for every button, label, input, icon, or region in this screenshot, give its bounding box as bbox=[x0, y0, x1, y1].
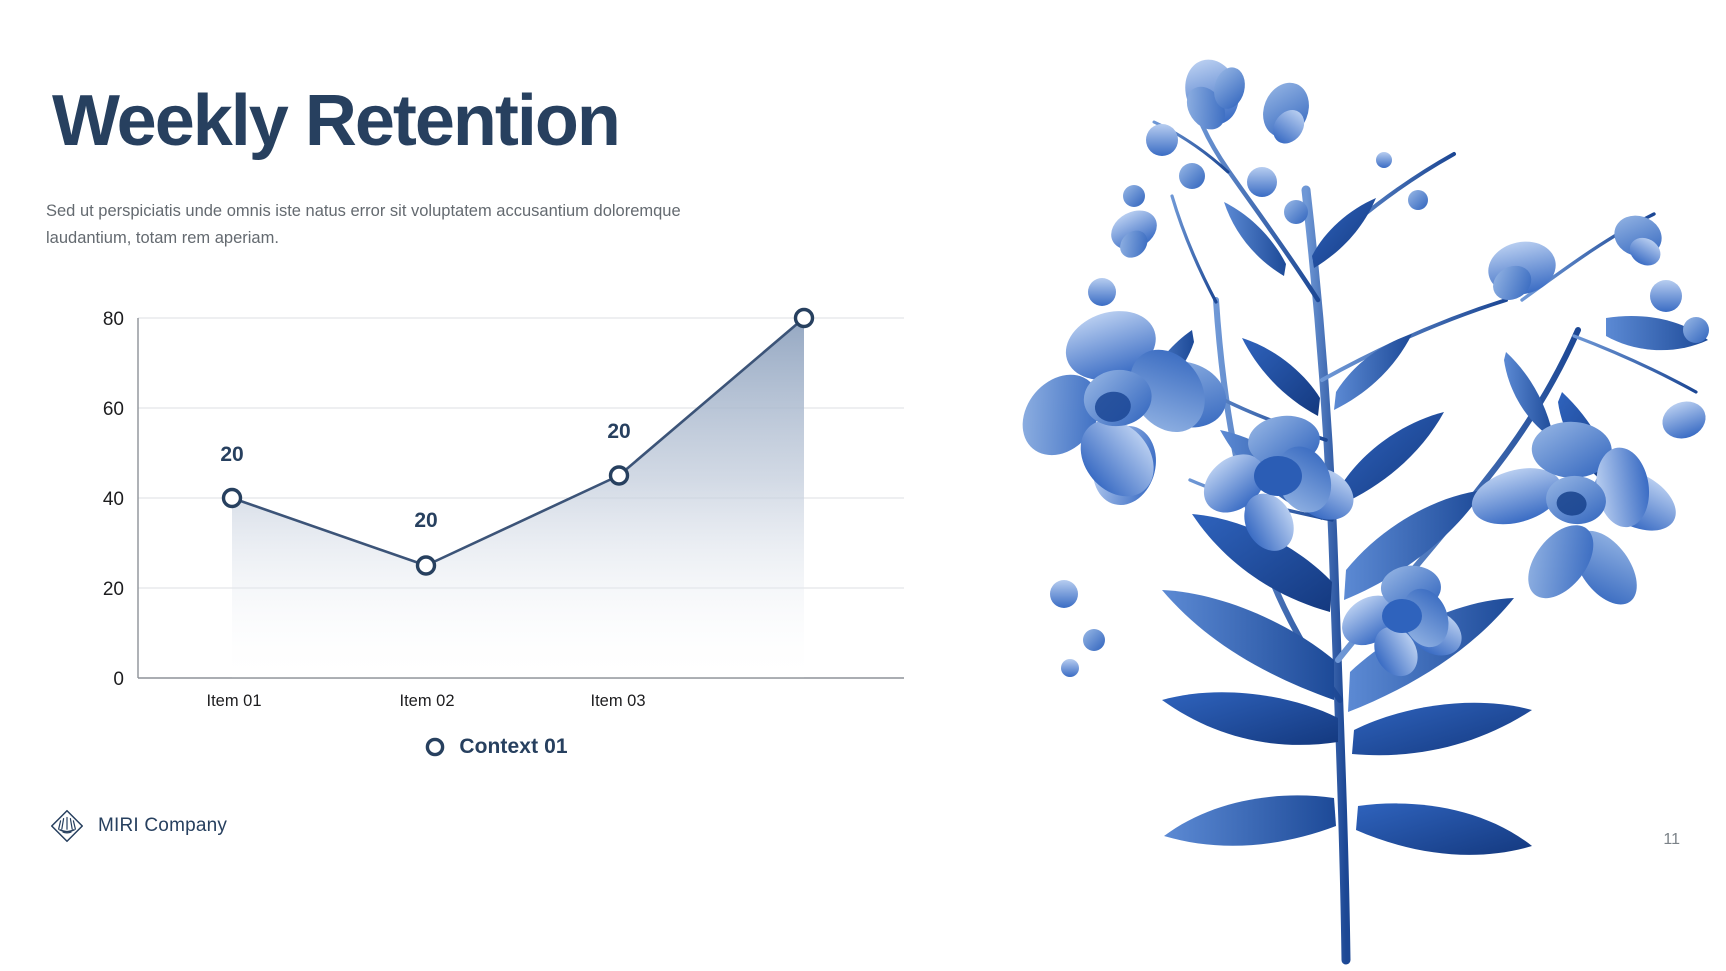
flower-buds bbox=[1050, 152, 1428, 677]
page-number: 11 bbox=[1663, 831, 1680, 849]
slide-subtitle: Sed ut perspiciatis unde omnis iste natu… bbox=[46, 198, 686, 251]
circle-outline-marker-icon bbox=[424, 736, 446, 758]
data-point-3[interactable] bbox=[611, 467, 628, 484]
data-point-2[interactable] bbox=[418, 557, 435, 574]
point-label-1: 20 bbox=[220, 443, 243, 466]
x-tick-item-03: Item 03 bbox=[590, 692, 645, 710]
content-column: Weekly Retention Sed ut perspiciatis und… bbox=[0, 0, 1010, 971]
y-tick-60: 60 bbox=[103, 399, 124, 420]
slide-root: Weekly Retention Sed ut perspiciatis und… bbox=[0, 0, 1726, 971]
data-point-1[interactable] bbox=[224, 490, 241, 507]
y-tick-0: 0 bbox=[113, 669, 124, 690]
botanical-illustration bbox=[966, 0, 1726, 971]
flower-bloom-center bbox=[1192, 412, 1362, 559]
legend-item-context-01[interactable]: Context 01 bbox=[424, 735, 567, 759]
page-title: Weekly Retention bbox=[52, 84, 619, 160]
retention-area-chart: 80 60 40 20 0 bbox=[46, 288, 946, 718]
point-label-3: 20 bbox=[607, 420, 630, 443]
x-tick-item-01: Item 01 bbox=[206, 692, 261, 710]
point-label-2: 20 bbox=[414, 509, 437, 532]
chart-svg: 80 60 40 20 0 bbox=[46, 288, 946, 718]
brand-name: MIRI Company bbox=[98, 815, 227, 837]
data-point-4[interactable] bbox=[796, 310, 813, 327]
flower-cluster-top bbox=[1088, 53, 1317, 306]
x-axis-tick-labels: Item 01 Item 02 Item 03 bbox=[206, 692, 645, 710]
y-tick-80: 80 bbox=[103, 309, 124, 330]
y-axis-tick-labels: 80 60 40 20 0 bbox=[103, 309, 124, 690]
footer-brand: MIRI Company bbox=[50, 809, 227, 843]
plant-leaves bbox=[1140, 198, 1708, 855]
y-tick-20: 20 bbox=[103, 579, 124, 600]
botanical-illustration-svg bbox=[966, 0, 1726, 971]
chart-legend: Context 01 bbox=[46, 735, 946, 759]
flower-cluster-right bbox=[1483, 210, 1710, 445]
legend-item-label: Context 01 bbox=[459, 735, 567, 759]
shell-diamond-logo-icon bbox=[50, 809, 84, 843]
plant-stems bbox=[1154, 96, 1696, 960]
x-tick-item-02: Item 02 bbox=[399, 692, 454, 710]
flower-bloom-lower bbox=[1333, 565, 1470, 684]
y-tick-40: 40 bbox=[103, 489, 124, 510]
flower-bloom-right bbox=[1453, 409, 1693, 623]
flower-bloom-left bbox=[992, 289, 1252, 529]
